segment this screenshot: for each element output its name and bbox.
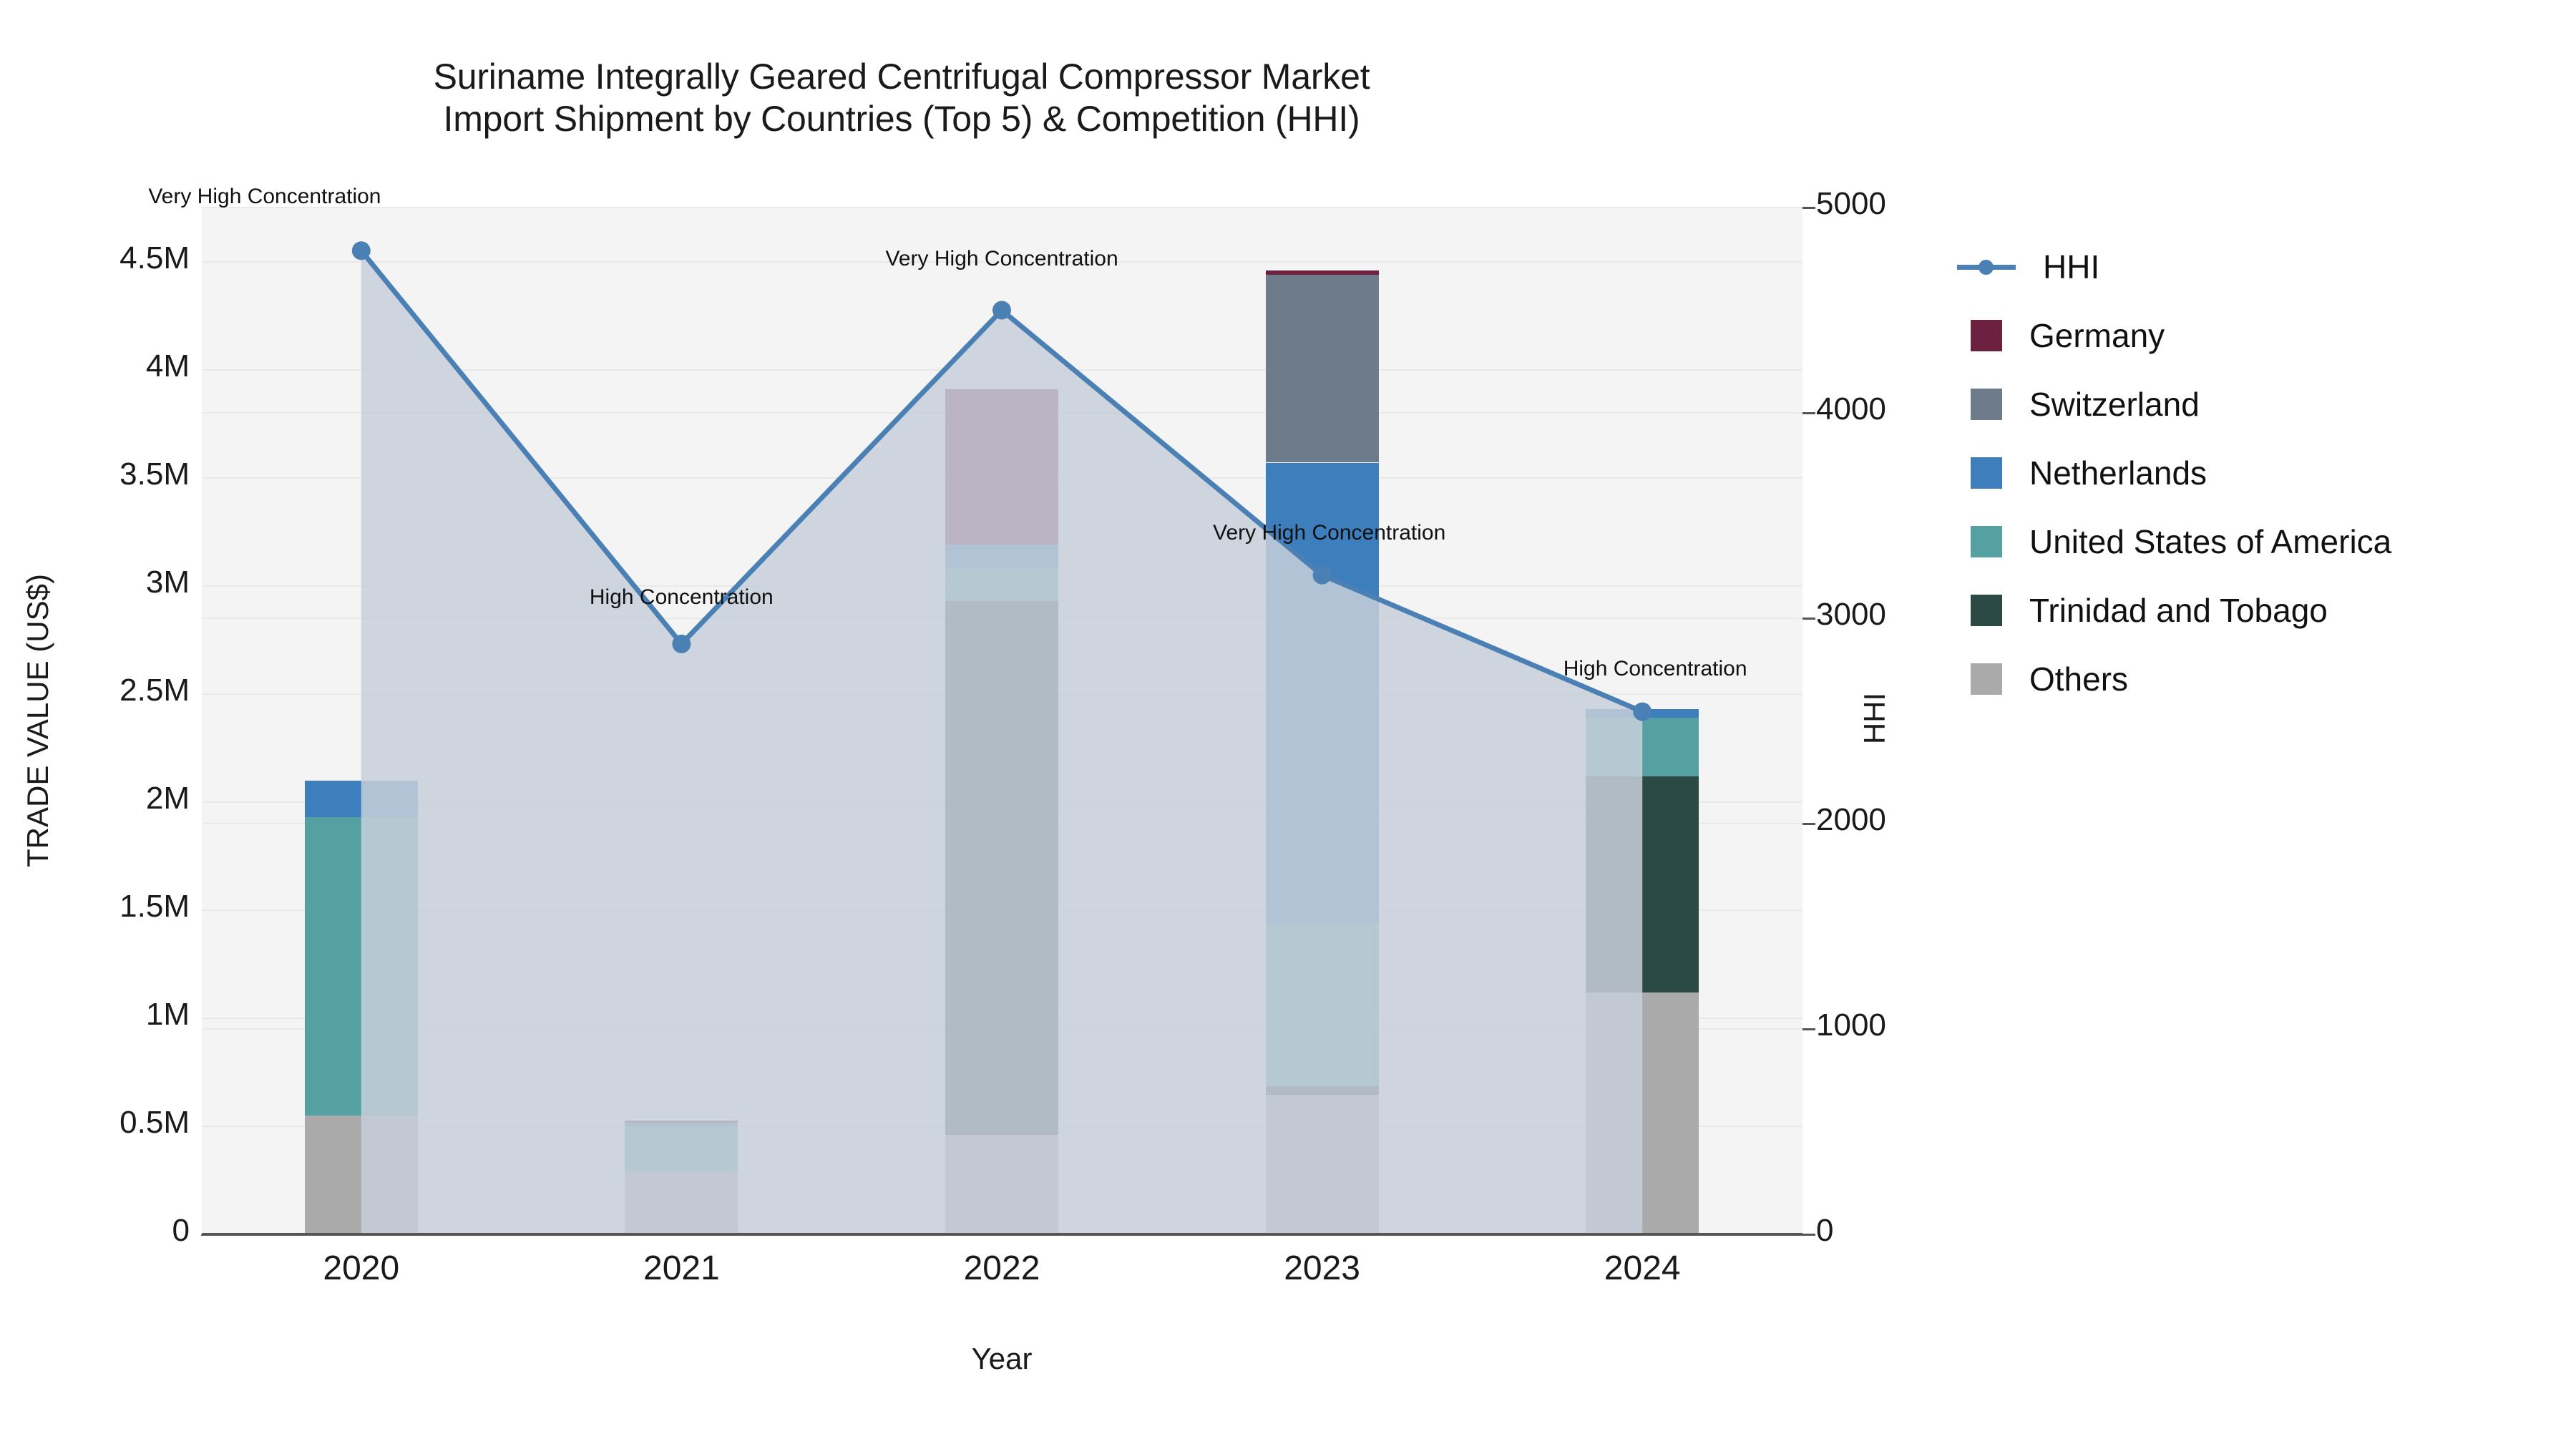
- legend-item[interactable]: Others: [1957, 645, 2558, 713]
- chart-title: Suriname Integrally Geared Centrifugal C…: [0, 56, 1803, 140]
- concentration-annotation: High Concentration: [1563, 657, 1747, 681]
- legend-item-label: Others: [2029, 660, 2128, 698]
- legend-color-swatch: [1971, 663, 2002, 695]
- x-tick-label: 2023: [1215, 1249, 1430, 1288]
- concentration-annotation: Very High Concentration: [148, 185, 381, 209]
- y-tick-label-left: 2M: [43, 781, 190, 816]
- legend-color-swatch: [1971, 526, 2002, 557]
- y-tick-label-left: 4M: [43, 348, 190, 384]
- concentration-annotation: Very High Concentration: [1213, 521, 1445, 545]
- chart-root: Suriname Integrally Geared Centrifugal C…: [0, 0, 2576, 1449]
- legend-color-swatch: [1971, 320, 2002, 351]
- y-tick-mark-right: [1802, 1028, 1815, 1030]
- legend-item[interactable]: Netherlands: [1957, 439, 2558, 507]
- y-tick-label-left: 1.5M: [43, 889, 190, 924]
- legend-item-label: United States of America: [2029, 522, 2391, 561]
- plot-area: Very High ConcentrationHigh Concentratio…: [201, 208, 1802, 1234]
- hhi-marker[interactable]: [352, 241, 371, 260]
- y-tick-mark-right: [1802, 207, 1815, 209]
- y-tick-mark-right: [1802, 823, 1815, 825]
- chart-title-line-1: Suriname Integrally Geared Centrifugal C…: [0, 56, 1803, 98]
- hhi-series: [201, 208, 1802, 1234]
- y-axis-left-title: TRADE VALUE (US$): [21, 492, 55, 950]
- hhi-marker[interactable]: [992, 301, 1011, 320]
- y-tick-label-right: 4000: [1816, 391, 1981, 427]
- hhi-area-fill: [361, 250, 1642, 1234]
- x-tick-label: 2024: [1535, 1249, 1750, 1288]
- concentration-annotation: High Concentration: [590, 585, 774, 610]
- y-tick-mark-right: [1802, 618, 1815, 620]
- y-tick-label-right: 1000: [1816, 1008, 1981, 1043]
- y-tick-label-left: 3.5M: [43, 457, 190, 492]
- y-tick-label-left: 0.5M: [43, 1105, 190, 1141]
- y-tick-label-left: 4.5M: [43, 240, 190, 276]
- y-tick-label-left: 3M: [43, 565, 190, 600]
- y-tick-mark-right: [1802, 412, 1815, 414]
- hhi-marker[interactable]: [1313, 566, 1332, 585]
- y-tick-label-right: 2000: [1816, 802, 1981, 838]
- legend-item[interactable]: Switzerland: [1957, 370, 2558, 439]
- hhi-marker[interactable]: [1633, 703, 1652, 721]
- legend-color-swatch: [1971, 389, 2002, 420]
- y-tick-label-right: 5000: [1816, 186, 1981, 222]
- x-tick-label: 2021: [574, 1249, 789, 1288]
- legend-item-label: Switzerland: [2029, 385, 2200, 424]
- legend-item[interactable]: Germany: [1957, 301, 2558, 370]
- hhi-marker[interactable]: [672, 635, 691, 653]
- x-axis-title: Year: [201, 1342, 1802, 1376]
- x-axis-line: [201, 1233, 1802, 1236]
- x-tick-label: 2020: [254, 1249, 469, 1288]
- chart-title-line-2: Import Shipment by Countries (Top 5) & C…: [0, 98, 1803, 140]
- y-tick-label-left: 2.5M: [43, 673, 190, 708]
- legend-item-label: Trinidad and Tobago: [2029, 591, 2328, 630]
- y-tick-label-right: 3000: [1816, 597, 1981, 633]
- legend-color-swatch: [1971, 457, 2002, 489]
- chart-legend: HHIGermanySwitzerlandNetherlandsUnited S…: [1957, 233, 2558, 713]
- legend-line-dot: [1979, 260, 1994, 275]
- y-tick-mark-right: [1802, 1234, 1815, 1236]
- legend-color-swatch: [1971, 595, 2002, 626]
- y-tick-label-right: 0: [1816, 1213, 1981, 1249]
- legend-item-label: Netherlands: [2029, 454, 2207, 492]
- legend-item-label: HHI: [2043, 248, 2099, 286]
- legend-line-icon: [1957, 251, 2016, 283]
- y-left-axis-line: [200, 208, 202, 1234]
- x-tick-label: 2022: [894, 1249, 1109, 1288]
- concentration-annotation: Very High Concentration: [886, 247, 1118, 271]
- legend-item-label: Germany: [2029, 316, 2165, 355]
- legend-item[interactable]: HHI: [1957, 233, 2558, 301]
- y-tick-label-left: 1M: [43, 997, 190, 1033]
- y-tick-label-left: 0: [43, 1213, 190, 1249]
- legend-item[interactable]: Trinidad and Tobago: [1957, 576, 2558, 645]
- y-axis-right-title: HHI: [1858, 640, 1892, 797]
- legend-item[interactable]: United States of America: [1957, 507, 2558, 576]
